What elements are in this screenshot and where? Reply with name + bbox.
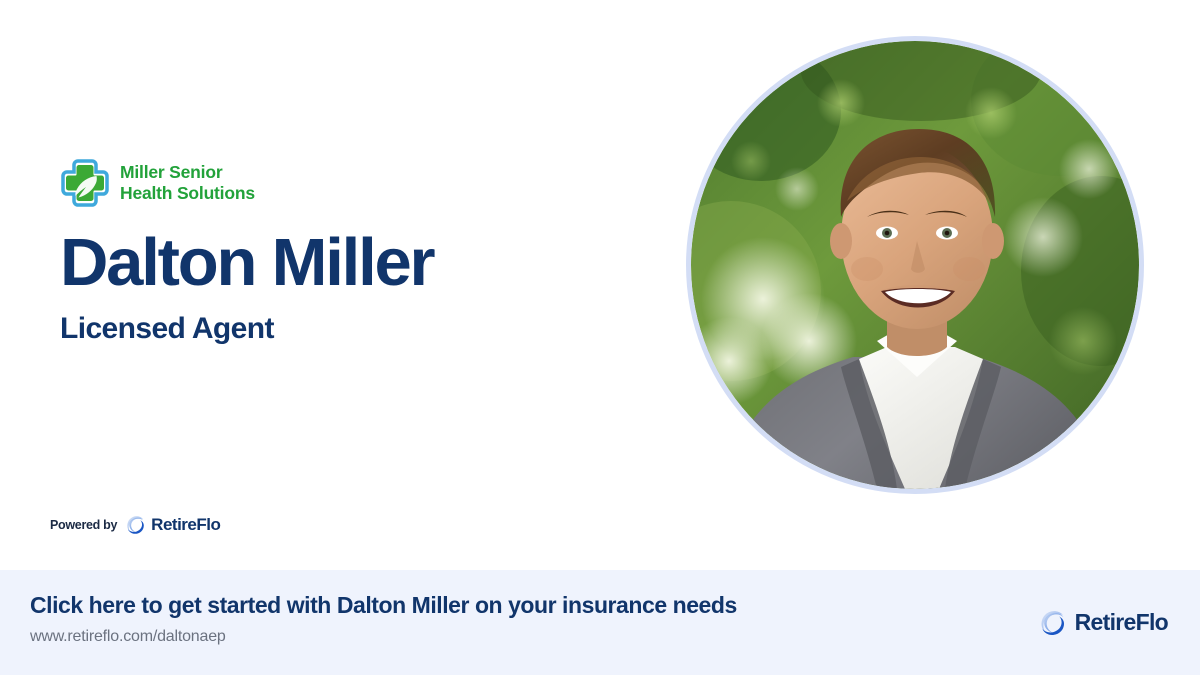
retireflo-lockup-large: RetireFlo bbox=[1037, 608, 1168, 638]
retireflo-wave-icon bbox=[124, 514, 146, 536]
retireflo-wave-icon bbox=[1037, 608, 1067, 638]
retireflo-wordmark-large: RetireFlo bbox=[1075, 609, 1168, 636]
agent-portrait-image bbox=[691, 41, 1139, 489]
cta-url[interactable]: www.retireflo.com/daltonaep bbox=[30, 628, 737, 646]
agent-name: Dalton Miller bbox=[60, 228, 640, 298]
agent-info-block: Miller Senior Health Solutions Dalton Mi… bbox=[60, 152, 640, 346]
agency-name-line-1: Miller Senior bbox=[120, 162, 255, 183]
medical-cross-leaf-icon bbox=[60, 158, 110, 208]
cta-banner[interactable]: Click here to get started with Dalton Mi… bbox=[0, 570, 1200, 675]
retireflo-wordmark-small: RetireFlo bbox=[151, 515, 220, 535]
agent-role: Licensed Agent bbox=[60, 312, 640, 346]
agency-name: Miller Senior Health Solutions bbox=[120, 162, 255, 203]
powered-by-block: Powered by RetireFlo bbox=[50, 514, 220, 536]
retireflo-lockup-small: RetireFlo bbox=[124, 514, 220, 536]
cta-text-block: Click here to get started with Dalton Mi… bbox=[30, 592, 737, 646]
agent-portrait bbox=[686, 36, 1144, 494]
powered-by-label: Powered by bbox=[50, 518, 117, 532]
cta-headline[interactable]: Click here to get started with Dalton Mi… bbox=[30, 592, 737, 619]
hero-section: Miller Senior Health Solutions Dalton Mi… bbox=[0, 0, 1200, 570]
agency-logo-lockup: Miller Senior Health Solutions bbox=[60, 152, 640, 214]
agency-name-line-2: Health Solutions bbox=[120, 183, 255, 204]
